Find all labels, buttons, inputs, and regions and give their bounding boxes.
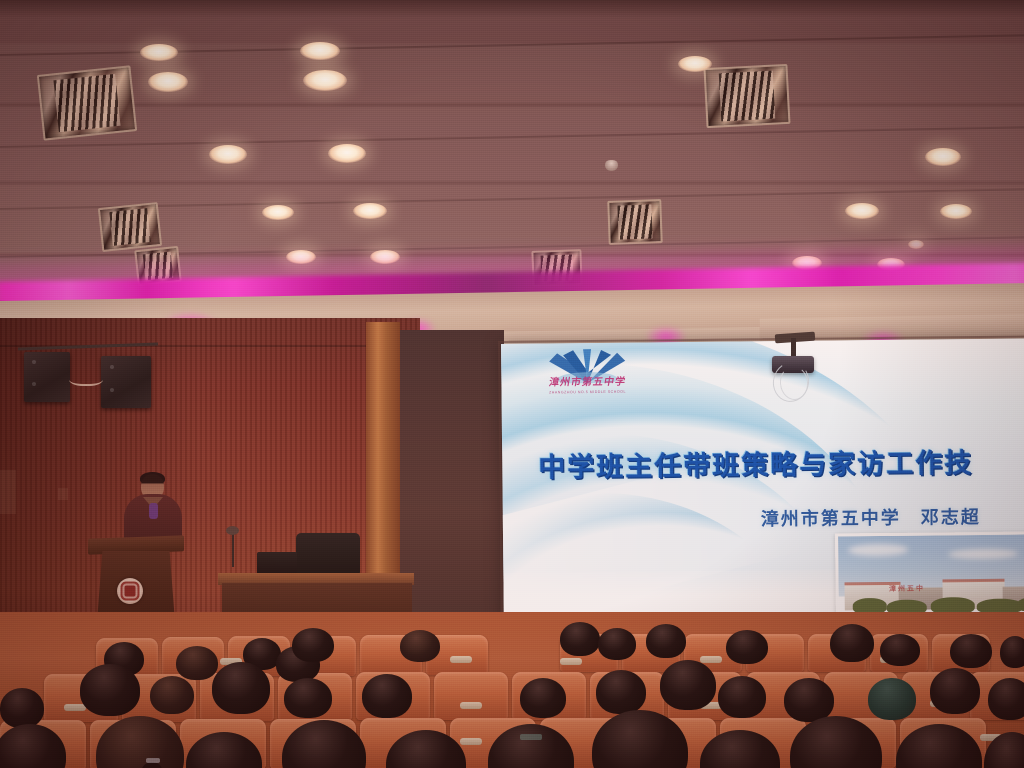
audience-member-head: [560, 622, 600, 656]
downlight-icon: [925, 148, 961, 166]
audience-member-head: [598, 628, 636, 660]
audience-member-head: [212, 662, 270, 714]
downlight-icon: [209, 145, 247, 164]
audience-member-head: [718, 676, 766, 718]
audience-member-head: [292, 628, 334, 662]
seat-number-plate: [460, 738, 482, 745]
audience-member-head: [176, 646, 218, 680]
ceiling-sensor-icon: [605, 160, 618, 171]
hair-clip-icon: [520, 734, 542, 740]
slide-title: 中学班主任带班策略与家访工作技: [538, 441, 973, 485]
seat-number-plate: [450, 656, 472, 663]
school-logo: 漳州市第五中学 ZHANGZHOU NO.5 MIDDLE SCHOOL: [521, 346, 652, 403]
audience-member-head: [0, 688, 44, 728]
downlight-icon: [845, 203, 879, 219]
slide-subtitle: 漳州市第五中学 邓志超: [761, 503, 981, 531]
campus-photo-roof: [942, 579, 1004, 583]
downlight-icon: [300, 42, 340, 60]
projection-screen: 漳州市第五中学 ZHANGZHOU NO.5 MIDDLE SCHOOL 中学班…: [501, 338, 1024, 627]
downlight-icon: [940, 204, 972, 219]
seat-number-plate: [560, 658, 582, 665]
downlight-icon: [262, 205, 294, 220]
audience-member-head: [80, 664, 140, 716]
downlight-icon: [678, 56, 712, 72]
audience-member-head: [596, 670, 646, 714]
downlight-icon: [140, 44, 178, 61]
audience-member-head: [660, 660, 716, 710]
school-emblem-icon: [117, 578, 143, 604]
audience-member-head: [930, 668, 980, 714]
audience-member-head: [400, 630, 440, 662]
audience-member-head: [150, 676, 194, 714]
audience-member-head: [784, 678, 834, 722]
auditorium-photo-scene: 漳州市第五中学 ZHANGZHOU NO.5 MIDDLE SCHOOL 中学班…: [0, 0, 1024, 768]
seat-number-plate: [700, 656, 722, 663]
auditorium-seat: [434, 672, 508, 720]
audience-member-head: [880, 634, 920, 666]
audience-member-head: [726, 630, 768, 664]
downlight-icon: [303, 70, 347, 91]
presenter-lanyard: [149, 503, 158, 519]
hvac-vent-icon: [607, 199, 663, 245]
audience-member-head: [988, 678, 1024, 720]
hvac-vent-icon: [37, 65, 137, 140]
microphone-stand: [232, 533, 234, 567]
school-logo-subtext: ZHANGZHOU NO.5 MIDDLE SCHOOL: [529, 389, 645, 394]
seat-number-plate: [460, 702, 482, 709]
school-logo-text: 漳州市第五中学: [530, 377, 644, 389]
projector-arm: [791, 338, 796, 358]
dark-wall-panel: [400, 330, 504, 630]
audience-member-head: [868, 678, 916, 720]
seat-number-plate: [64, 704, 86, 711]
campus-photo-caption: 漳州五中: [889, 584, 925, 594]
ceiling-seam: [0, 125, 1024, 149]
speaker-cable: [69, 370, 103, 386]
hvac-vent-icon: [703, 64, 790, 128]
downlight-icon: [353, 203, 387, 219]
downlight-icon: [328, 144, 366, 163]
wall-light-patch: [58, 488, 68, 500]
audience-member-head: [830, 624, 874, 662]
microphone-icon: [226, 526, 239, 535]
downlight-icon: [908, 240, 924, 249]
audience-member-head: [646, 624, 686, 658]
audience-member-head: [1000, 636, 1024, 668]
wall-speaker: [101, 356, 151, 408]
wall-light-patch: [0, 470, 16, 514]
hair-clip-icon: [146, 758, 160, 763]
downlight-icon: [148, 72, 188, 92]
wall-speaker: [24, 352, 70, 402]
audience-member-head: [284, 678, 332, 718]
audience-seating: [0, 612, 1024, 768]
audience-member-head: [362, 674, 412, 718]
audience-member-head: [950, 634, 992, 668]
hvac-vent-icon: [98, 202, 162, 252]
audience-member-head: [520, 678, 566, 718]
stage-chair: [296, 533, 360, 575]
